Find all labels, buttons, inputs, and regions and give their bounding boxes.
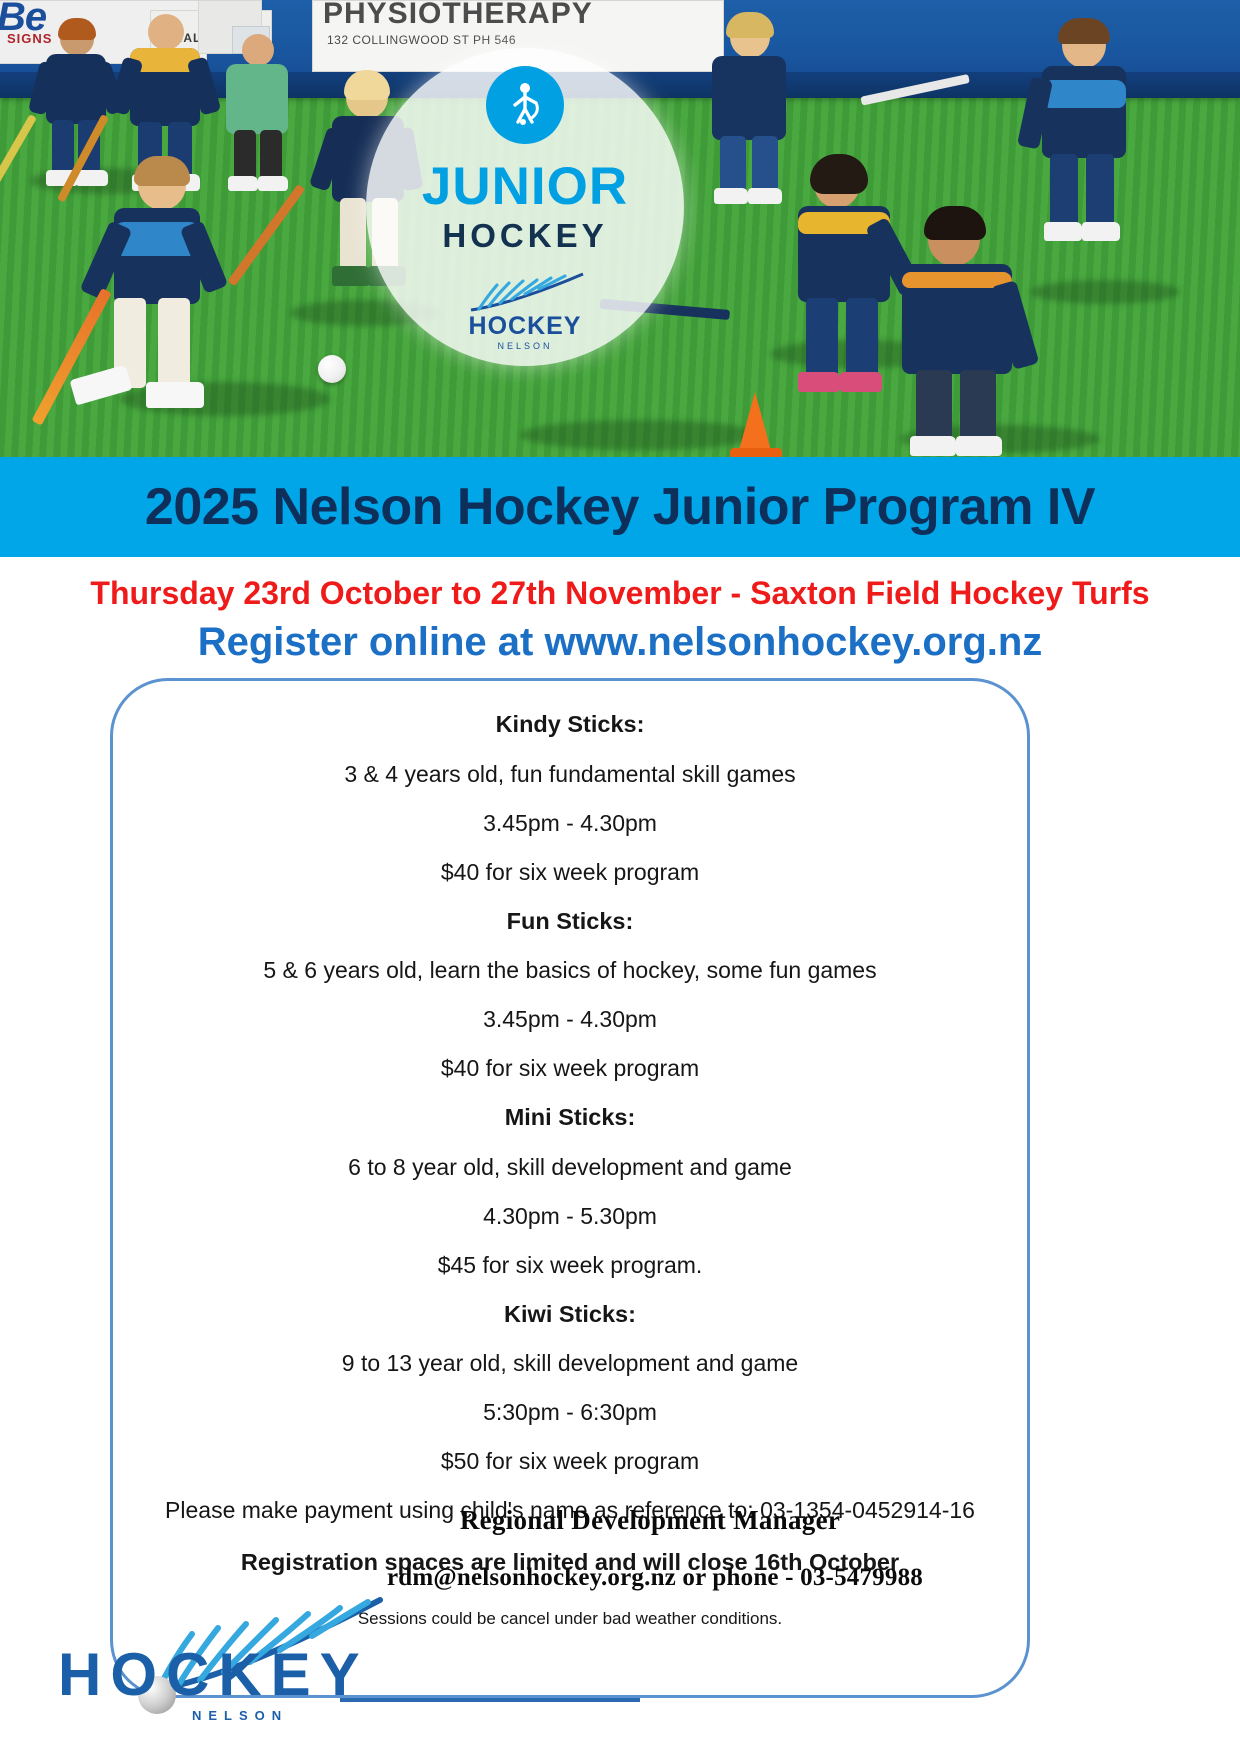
program-price-kindy: $40 for six week program	[110, 848, 1030, 897]
training-cone-base	[730, 448, 782, 457]
dates-venue-line: Thursday 23rd October to 27th November -…	[0, 575, 1240, 612]
training-cone	[738, 392, 772, 454]
hero-photo: Be SIGNS IONALS PHYSIOTHERAPY 132 COLLIN…	[0, 0, 1240, 457]
program-time-kindy: 3.45pm - 4.30pm	[110, 799, 1030, 848]
title-banner: 2025 Nelson Hockey Junior Program IV	[0, 457, 1240, 557]
hockey-ball	[318, 355, 346, 383]
logo-brand-sub: NELSON	[497, 341, 552, 351]
hockey-player-icon	[486, 66, 564, 144]
advert-board-3-top: PHYSIOTHERAPY	[323, 0, 593, 31]
page-title: 2025 Nelson Hockey Junior Program IV	[145, 477, 1095, 537]
details-content: Kindy Sticks: 3 & 4 years old, fun funda…	[110, 700, 1030, 1637]
logo-line-junior: JUNIOR	[422, 160, 628, 213]
program-name-fun: Fun Sticks:	[110, 897, 1030, 947]
program-name-mini: Mini Sticks:	[110, 1093, 1030, 1143]
program-price-fun: $40 for six week program	[110, 1044, 1030, 1093]
player-figure	[1020, 22, 1160, 272]
program-name-kindy: Kindy Sticks:	[110, 700, 1030, 750]
contact-role: Regional Development Manager	[60, 1505, 1240, 1536]
program-name-kiwi: Kiwi Sticks:	[110, 1290, 1030, 1340]
footer-logo-sub: NELSON	[192, 1708, 288, 1723]
player-figure	[80, 160, 260, 450]
contact-block: Regional Development Manager rdm@nelsonh…	[0, 1505, 1240, 1592]
logo-brandmark: HOCKEY NELSON	[455, 272, 595, 351]
program-price-mini: $45 for six week program.	[110, 1241, 1030, 1290]
junior-hockey-logo: JUNIOR HOCKEY HOCKEY NELSON	[366, 48, 684, 366]
program-time-mini: 4.30pm - 5.30pm	[110, 1192, 1030, 1241]
footer-logo-word: HOCKEY	[58, 1640, 369, 1709]
program-desc-kiwi: 9 to 13 year old, skill development and …	[110, 1339, 1030, 1388]
program-desc-fun: 5 & 6 years old, learn the basics of hoc…	[110, 946, 1030, 995]
advert-board-3-bottom: 132 COLLINGWOOD ST PH 546	[327, 33, 516, 47]
contact-details[interactable]: rdm@nelsonhockey.org.nz or phone - 03-54…	[70, 1564, 1240, 1592]
player-shadow	[520, 420, 760, 450]
program-desc-mini: 6 to 8 year old, skill development and g…	[110, 1143, 1030, 1192]
program-time-fun: 3.45pm - 4.30pm	[110, 995, 1030, 1044]
program-desc-kindy: 3 & 4 years old, fun fundamental skill g…	[110, 750, 1030, 799]
logo-brand-word: HOCKEY	[469, 314, 582, 339]
logo-line-hockey: HOCKEY	[442, 219, 607, 252]
nelson-hockey-logo: HOCKEY NELSON	[40, 1598, 390, 1738]
register-link[interactable]: Register online at www.nelsonhockey.org.…	[0, 620, 1240, 665]
fern-icon	[455, 272, 595, 314]
program-time-kiwi: 5:30pm - 6:30pm	[110, 1388, 1030, 1437]
program-price-kiwi: $50 for six week program	[110, 1437, 1030, 1486]
